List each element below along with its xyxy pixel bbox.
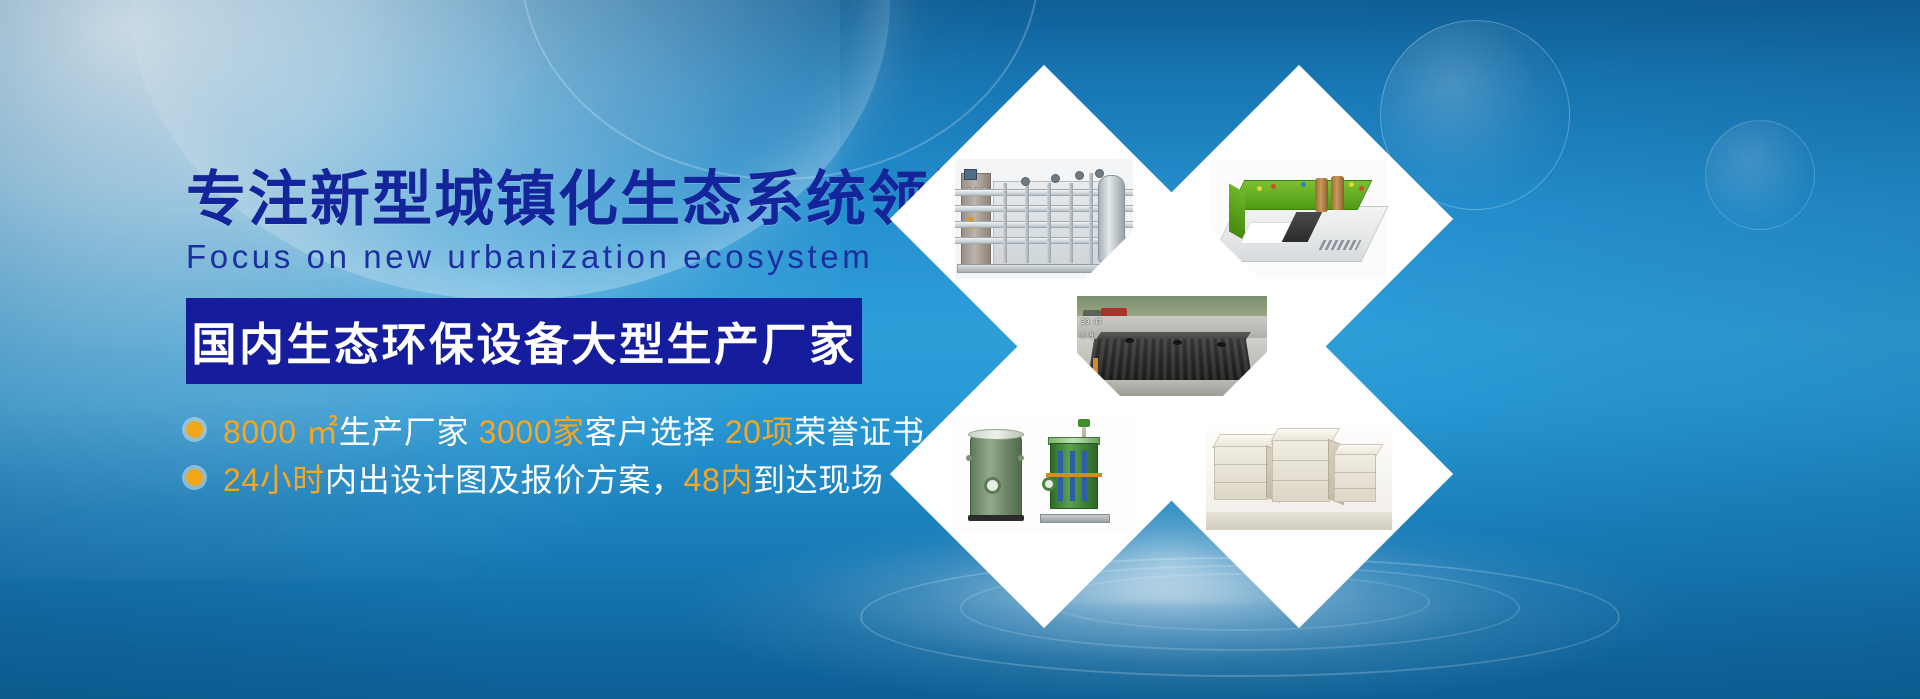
highlight-box-text: 国内生态环保设备大型生产厂家 xyxy=(191,308,856,373)
banner-headline: 专注新型城镇化生态系统领域 xyxy=(186,168,946,232)
bullet-highlight: 20项 xyxy=(725,414,794,450)
bullet-dot-icon xyxy=(186,421,203,438)
banner-text-block: 专注新型城镇化生态系统领域 Focus on new urbanization … xyxy=(186,168,946,502)
photo-aac-block-stack xyxy=(1206,418,1392,530)
bullet-plain: 生产厂家 xyxy=(339,414,479,450)
bullet-text-1: 8000 ㎡生产厂家 3000家客户选择 20项荣誉证书 xyxy=(223,407,925,453)
promo-banner: 专注新型城镇化生态系统领域 Focus on new urbanization … xyxy=(0,0,1920,699)
banner-subheadline: Focus on new urbanization ecosystem xyxy=(186,238,946,276)
bullet-highlight: 48内 xyxy=(684,462,753,498)
bullet-text-2: 24小时内出设计图及报价方案，48内到达现场 xyxy=(223,455,883,501)
bullet-item-1: 8000 ㎡生产厂家 3000家客户选择 20项荣誉证书 xyxy=(186,406,946,454)
highlight-box: 国内生态环保设备大型生产厂家 xyxy=(186,298,862,384)
bullet-item-2: 24小时内出设计图及报价方案，48内到达现场 xyxy=(186,454,946,502)
product-tile-grid: 39 47 6 9 xyxy=(905,55,1325,655)
bullet-plain: 内出设计图及报价方案， xyxy=(325,462,684,498)
photo-frp-pump-station xyxy=(954,415,1134,533)
bullet-highlight: 3000家 xyxy=(479,414,585,450)
bullet-highlight: 24小时 xyxy=(223,462,325,498)
bullet-highlight: 8000 ㎡ xyxy=(223,414,339,450)
bullet-plain: 到达现场 xyxy=(753,462,883,498)
bullet-list: 8000 ㎡生产厂家 3000家客户选择 20项荣誉证书 24小时内出设计图及报… xyxy=(186,406,946,502)
bullet-plain: 客户选择 xyxy=(585,414,725,450)
bullet-dot-icon xyxy=(186,469,203,486)
